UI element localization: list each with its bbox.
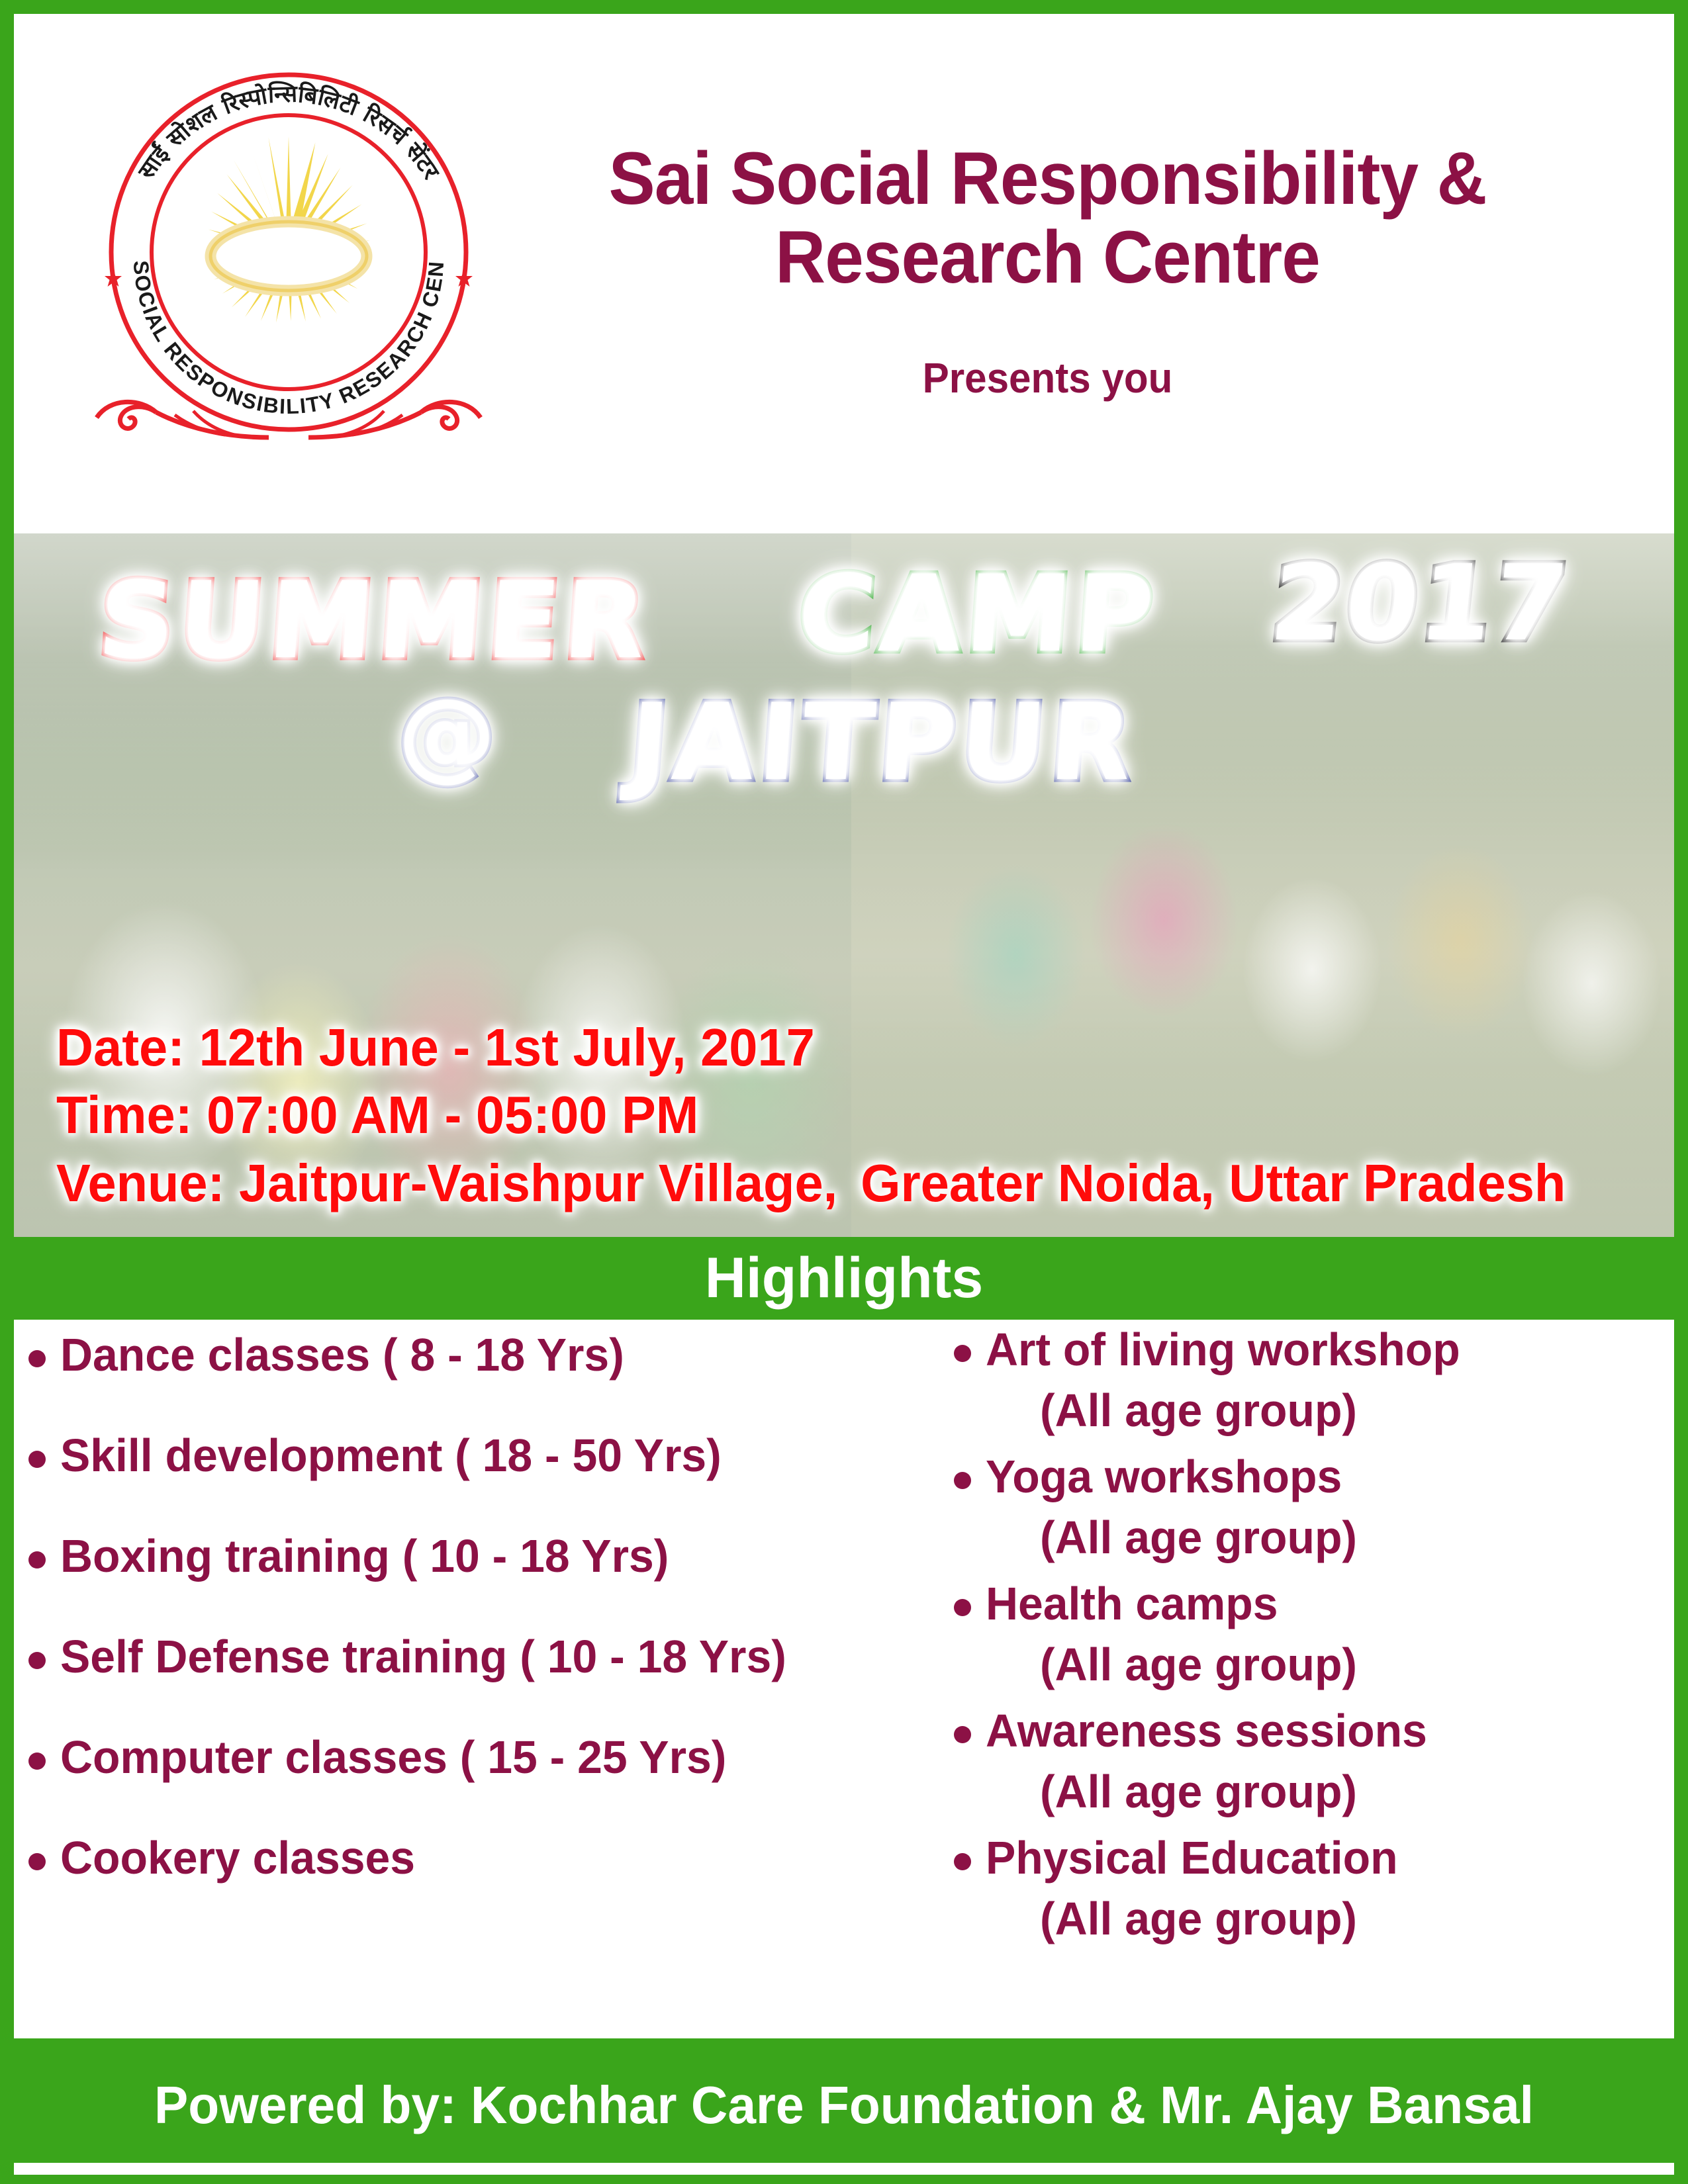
list-item-sublabel: (All age group) [1040,1768,1655,1815]
wordart-at-symbol: @ [398,678,500,792]
list-item-sublabel: (All age group) [1040,1514,1655,1561]
highlights-banner: Highlights [0,1237,1688,1320]
list-item-label: Cookery classes [60,1835,415,1881]
event-date: Date: 12th June - 1st July, 2017 [56,1014,1566,1081]
bullet-icon [28,1551,46,1569]
list-item-label: Art of living workshop [986,1326,1460,1373]
list-item: Cookery classes [28,1835,947,1881]
list-item: Boxing training ( 10 - 18 Yrs) [28,1533,947,1579]
organization-logo: साईं सोशल रिस्पोन्सिबिलिटी रिसर्च सेंटर … [77,40,500,464]
event-venue: Venue: Jaitpur-Vaishpur Village,Greater … [56,1150,1566,1217]
list-item-label: Boxing training ( 10 - 18 Yrs) [60,1533,669,1579]
list-item-label: Yoga workshops [986,1453,1342,1500]
wordart-year: 2017 [1265,543,1574,664]
list-item: Awareness sessions (All age group) [954,1707,1674,1815]
list-item: Physical Education (All age group) [954,1835,1674,1942]
bullet-icon [28,1752,46,1770]
bullet-icon [954,1853,971,1870]
list-item: Self Defense training ( 10 - 18 Yrs) [28,1633,947,1680]
highlights-title: Highlights [705,1246,983,1311]
list-item-label: Skill development ( 18 - 50 Yrs) [60,1432,722,1479]
footer-divider [14,2163,1674,2175]
bullet-icon [28,1350,46,1367]
highlights-column-right: Art of living workshop (All age group) Y… [947,1320,1674,2038]
list-item-label: Self Defense training ( 10 - 18 Yrs) [60,1633,786,1680]
list-item-label: Awareness sessions [986,1707,1427,1754]
poster-root: साईं सोशल रिस्पोन्सिबिलिटी रिसर्च सेंटर … [0,0,1688,2184]
powered-by-label: Powered by: Kochhar Care Foundation & Mr… [34,2075,1654,2136]
list-item-label: Physical Education [986,1835,1398,1881]
seal-logo-icon: साईं सोशल रिस्पोन्सिबिलिटी रिसर्च सेंटर … [77,40,500,464]
event-venue-part1: Venue: Jaitpur-Vaishpur Village, [56,1154,837,1212]
event-venue-part2: Greater Noida, Uttar Pradesh [861,1154,1566,1212]
event-time: Time: 07:00 AM - 05:00 PM [56,1081,1566,1149]
bullet-icon [954,1599,971,1616]
bullet-icon [28,1451,46,1468]
event-details: Date: 12th June - 1st July, 2017 Time: 0… [56,1014,1566,1217]
list-item-label: Computer classes ( 15 - 25 Yrs) [60,1734,726,1780]
bullet-icon [28,1652,46,1669]
list-item-sublabel: (All age group) [1040,1387,1655,1433]
list-item-label: Dance classes ( 8 - 18 Yrs) [60,1332,624,1378]
photo-banner: SUMMER CAMP 2017 @ JAITPUR Date: 12th Ju… [14,533,1674,1237]
organization-name-line1: Sai Social Responsibility & [534,140,1562,218]
wordart-summer: SUMMER [94,559,653,682]
header-title-block: Sai Social Responsibility & Research Cen… [500,14,1674,402]
list-item: Art of living workshop (All age group) [954,1326,1674,1433]
wordart-jaitpur: JAITPUR [625,680,1139,804]
list-item: Dance classes ( 8 - 18 Yrs) [28,1332,947,1378]
list-item-sublabel: (All age group) [1040,1641,1655,1688]
list-item: Skill development ( 18 - 50 Yrs) [28,1432,947,1479]
bullet-icon [954,1472,971,1489]
poster-footer: Powered by: Kochhar Care Foundation & Mr… [0,2038,1688,2184]
list-item: Computer classes ( 15 - 25 Yrs) [28,1734,947,1780]
list-item-sublabel: (All age group) [1040,1895,1655,1942]
bullet-icon [954,1345,971,1362]
poster-header: साईं सोशल रिस्पोन्सिबिलिटी रिसर्च सेंटर … [14,14,1674,533]
wordart-camp: CAMP [794,552,1161,676]
organization-name-line2: Research Centre [534,218,1562,297]
bullet-icon [954,1726,971,1743]
highlights-content: Dance classes ( 8 - 18 Yrs) Skill develo… [14,1320,1674,2038]
highlights-column-left: Dance classes ( 8 - 18 Yrs) Skill develo… [14,1320,947,2038]
organization-name: Sai Social Responsibility & Research Cen… [534,140,1562,296]
presents-label: Presents you [534,353,1562,402]
list-item: Health camps (All age group) [954,1580,1674,1688]
list-item: Yoga workshops (All age group) [954,1453,1674,1561]
list-item-label: Health camps [986,1580,1278,1627]
bullet-icon [28,1853,46,1870]
